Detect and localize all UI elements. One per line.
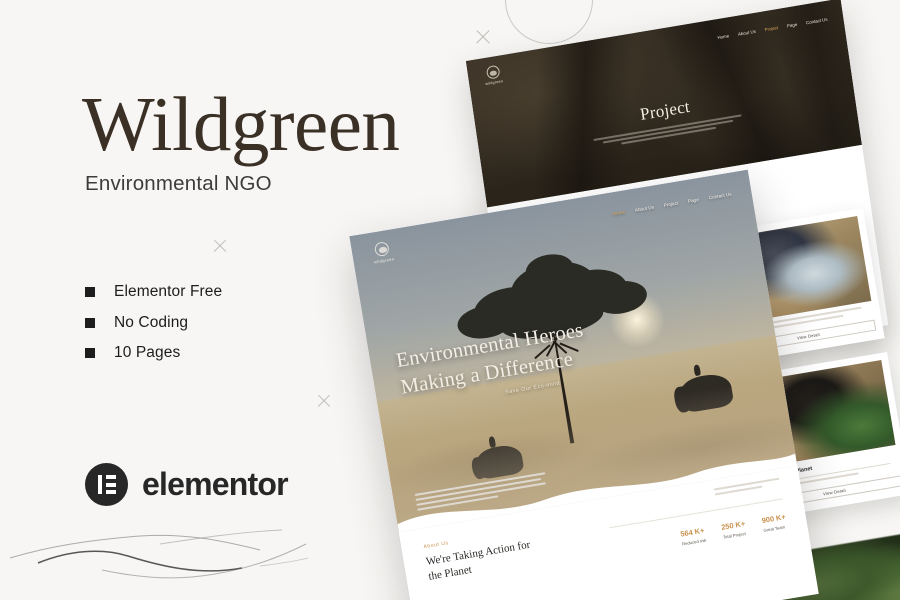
project-navbar: wildgreen Home About Us Project Page Con… bbox=[467, 7, 845, 89]
stat-item: 250 K+ Total Project bbox=[721, 519, 747, 539]
feature-list: Elementor Free No Coding 10 Pages bbox=[85, 281, 222, 373]
nav-item-about[interactable]: About Us bbox=[738, 29, 757, 37]
promo-left-panel: Wildgreen Environmental NGO Elementor Fr… bbox=[0, 0, 440, 600]
leaf-logo-icon bbox=[485, 65, 500, 80]
nav-item-contact[interactable]: Contact Us bbox=[806, 17, 828, 26]
list-item: Elementor Free bbox=[85, 281, 222, 303]
bullet-square-icon bbox=[85, 348, 95, 358]
elementor-logo: elementor bbox=[85, 463, 288, 506]
brand-subtitle: Environmental NGO bbox=[85, 172, 272, 196]
stats-row: 564 K+ Reduced risk 250 K+ Total Project… bbox=[680, 512, 788, 546]
about-heading: We're Taking Action for the Planet bbox=[425, 530, 578, 585]
nav-item-project[interactable]: Project bbox=[764, 25, 778, 32]
nav-item-page[interactable]: Page bbox=[787, 22, 798, 29]
feature-label: 10 Pages bbox=[114, 344, 180, 362]
feature-label: No Coding bbox=[114, 314, 188, 332]
project-page-title: Project bbox=[476, 70, 854, 153]
site-logo[interactable]: wildgreen bbox=[483, 64, 504, 86]
bullet-square-icon bbox=[85, 287, 95, 297]
stat-item: 900 K+ Great Team bbox=[761, 512, 787, 532]
bullet-square-icon bbox=[85, 318, 95, 328]
stat-label: Reduced risk bbox=[682, 537, 707, 546]
elementor-wordmark: elementor bbox=[142, 466, 288, 503]
list-item: 10 Pages bbox=[85, 342, 222, 364]
stat-label: Great Team bbox=[763, 524, 788, 533]
nav-item-project[interactable]: Project bbox=[663, 201, 678, 208]
nav-item-contact[interactable]: Contact Us bbox=[708, 192, 732, 201]
nav-menu: Home About Us Project Page Contact Us bbox=[717, 17, 828, 40]
elementor-mark-icon bbox=[85, 463, 128, 506]
nav-item-home[interactable]: Home bbox=[717, 33, 729, 40]
feature-label: Elementor Free bbox=[114, 283, 222, 301]
stat-label: Total Project bbox=[722, 530, 747, 539]
stat-item: 564 K+ Reduced risk bbox=[680, 526, 707, 546]
nav-item-page[interactable]: Page bbox=[688, 197, 700, 204]
logo-wordmark: wildgreen bbox=[485, 79, 503, 86]
nav-item-home[interactable]: Home bbox=[612, 209, 625, 216]
list-item: No Coding bbox=[85, 312, 222, 334]
nav-item-about[interactable]: About Us bbox=[634, 205, 654, 213]
page-title: Wildgreen bbox=[82, 86, 399, 163]
